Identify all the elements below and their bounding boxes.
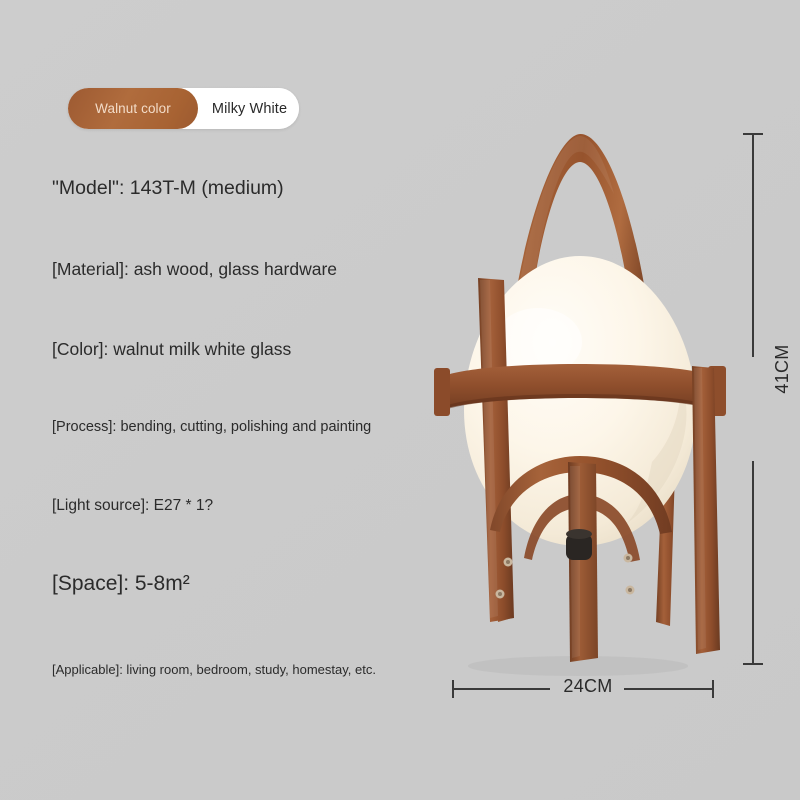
dimension-width: 24CM bbox=[452, 688, 714, 690]
dimension-width-label: 24CM bbox=[548, 676, 628, 697]
product-spec-scene: Walnut color Milky White "Model": 143T-M… bbox=[0, 0, 800, 800]
dimension-height: 41CM bbox=[752, 133, 754, 665]
dimension-height-cap-bottom bbox=[743, 663, 763, 665]
dimension-width-line-right bbox=[624, 688, 714, 690]
dimension-width-cap-right bbox=[712, 680, 714, 698]
lamp-leg-front-center bbox=[568, 462, 598, 662]
spec-process: [Process]: bending, cutting, polishing a… bbox=[52, 419, 371, 435]
color-option-milky-white[interactable]: Milky White bbox=[184, 88, 299, 129]
spec-model: "Model": 143T-M (medium) bbox=[52, 177, 284, 200]
color-option-toggle[interactable]: Walnut color Milky White bbox=[68, 88, 299, 129]
lamp-product-illustration bbox=[420, 110, 740, 690]
assembly-screw-set bbox=[496, 554, 635, 599]
spec-material: [Material]: ash wood, glass hardware bbox=[52, 259, 337, 280]
spec-color: [Color]: walnut milk white glass bbox=[52, 339, 291, 360]
spec-applicable: [Applicable]: living room, bedroom, stud… bbox=[52, 662, 376, 677]
dimension-height-line-upper bbox=[752, 133, 754, 357]
dimension-height-line-lower bbox=[752, 461, 754, 665]
dimension-width-line-left bbox=[452, 688, 550, 690]
lamp-socket-fitting bbox=[566, 529, 592, 560]
dimension-height-label: 41CM bbox=[772, 317, 794, 421]
spec-light-source: [Light source]: E27 * 1? bbox=[52, 497, 213, 515]
spec-space: [Space]: 5-8m² bbox=[52, 572, 190, 596]
color-option-walnut[interactable]: Walnut color bbox=[68, 88, 198, 129]
